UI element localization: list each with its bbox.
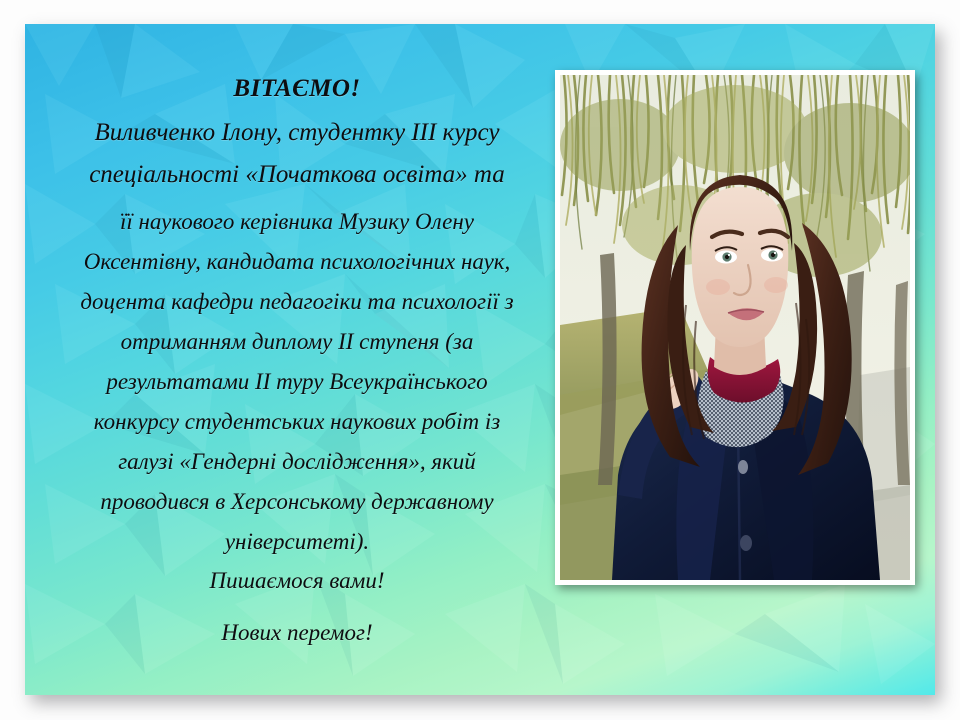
paragraph-supervisor: її наукового керівника Музику Олену Оксе… [47,202,547,562]
photo-frame [555,70,915,585]
slide-stage: ВІТАЄМО! Виливченко Ілону, студентку ІІІ… [0,0,960,720]
pride-line: Пишаємося вами! [47,564,547,598]
slide-text-column: ВІТАЄМО! Виливченко Ілону, студентку ІІІ… [47,74,547,650]
presentation-slide: ВІТАЄМО! Виливченко Ілону, студентку ІІІ… [25,24,935,695]
page-title: ВІТАЄМО! [47,74,547,104]
wish-line: Нових перемог! [47,616,547,650]
paragraph-student: Виливченко Ілону, студентку ІІІ курсу сп… [47,112,547,196]
photo-illustration [560,75,910,580]
student-photo [560,75,910,580]
